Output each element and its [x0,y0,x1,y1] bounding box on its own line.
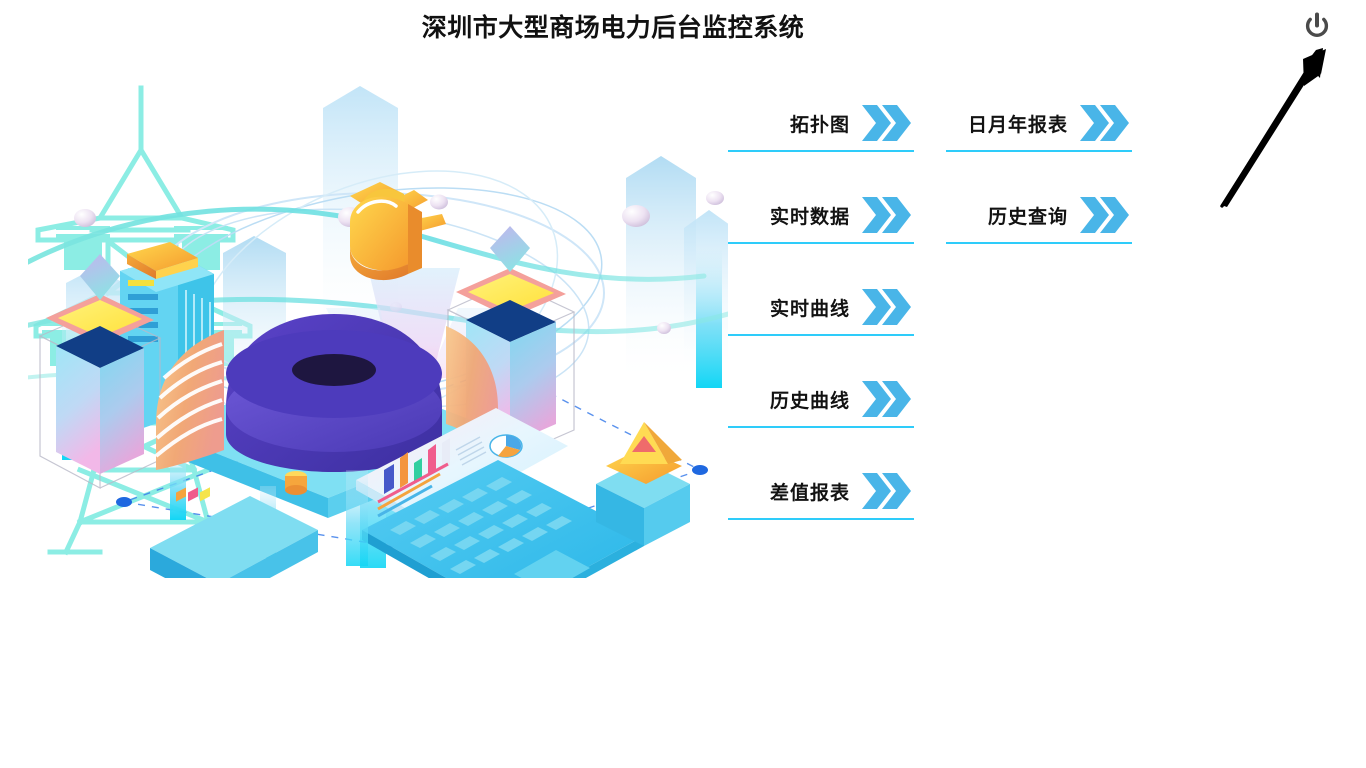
data-cube-left [40,254,160,488]
double-chevron-right-icon [860,378,912,420]
server-leds [176,487,210,501]
app-root: 深圳市大型商场电力后台监控系统 拓扑图 [0,0,1366,768]
double-chevron-right-icon [860,286,912,328]
tech-tower-building [123,268,180,470]
dome-wing-right [446,326,498,452]
base-plane-nodes [116,363,708,561]
base-plane-dashed [124,368,700,556]
menu-item-realtime-data[interactable]: 实时数据 [728,188,914,250]
dashboard-stripes [456,437,486,465]
transmission-tower [36,88,250,552]
menu-item-underline [728,334,914,336]
server-slab [150,487,318,578]
menu-item-underline [946,150,1132,152]
menu-item-topology[interactable]: 拓扑图 [728,96,914,158]
power-icon [1301,11,1333,43]
central-platform [158,366,498,558]
double-chevron-right-icon [1078,194,1130,236]
menu-item-underline [728,150,914,152]
menu-item-realtime-curve[interactable]: 实时曲线 [728,280,914,342]
central-dome [156,310,498,472]
laptop-dashboard [356,408,644,578]
hologram-beam [368,268,460,378]
menu-item-label: 历史曲线 [770,386,850,413]
dashboard-pie [490,435,522,457]
tower-insulators [42,228,242,366]
double-chevron-right-icon [860,102,912,144]
annotation-pointer-arrow [1200,28,1350,218]
menu-item-label: 拓扑图 [790,110,850,137]
menu-item-underline [946,242,1132,244]
menu-item-label: 历史查询 [988,202,1068,229]
menu-item-label: 实时曲线 [770,294,850,321]
keyboard-keys [390,477,572,574]
dome-wing-left [156,330,224,470]
menu-item-label: 日月年报表 [968,110,1068,137]
orbit-rings [135,121,617,478]
smart-city-power-illustration [28,78,728,578]
menu-item-history-curve[interactable]: 历史曲线 [728,372,914,434]
dashboard-bars [384,438,450,494]
dashboard-lines [378,464,448,516]
trackpad [514,550,590,578]
lock-icon-3d [350,182,446,280]
main-menu: 拓扑图 实时数据 实时曲线 [728,96,1148,536]
menu-item-difference-report[interactable]: 差值报表 [728,464,914,526]
page-title: 深圳市大型商场电力后台监控系统 [0,14,1226,44]
menu-item-underline [728,426,914,428]
menu-item-day-month-year-report[interactable]: 日月年报表 [946,96,1132,158]
power-button[interactable] [1298,8,1336,46]
background-buildings [62,86,728,568]
data-cube-right [448,226,574,458]
menu-item-label: 实时数据 [770,202,850,229]
orbit-spheres [74,191,724,334]
double-chevron-right-icon [860,194,912,236]
menu-item-underline [728,242,914,244]
double-chevron-right-icon [860,470,912,512]
orbit-ribbons [28,209,728,394]
platform-markers [179,417,307,495]
menu-item-underline [728,518,914,520]
double-chevron-right-icon [1078,102,1130,144]
menu-item-label: 差值报表 [770,478,850,505]
central-tall-building [120,242,214,436]
menu-item-history-query[interactable]: 历史查询 [946,188,1132,250]
pyramid-cube [596,422,690,546]
